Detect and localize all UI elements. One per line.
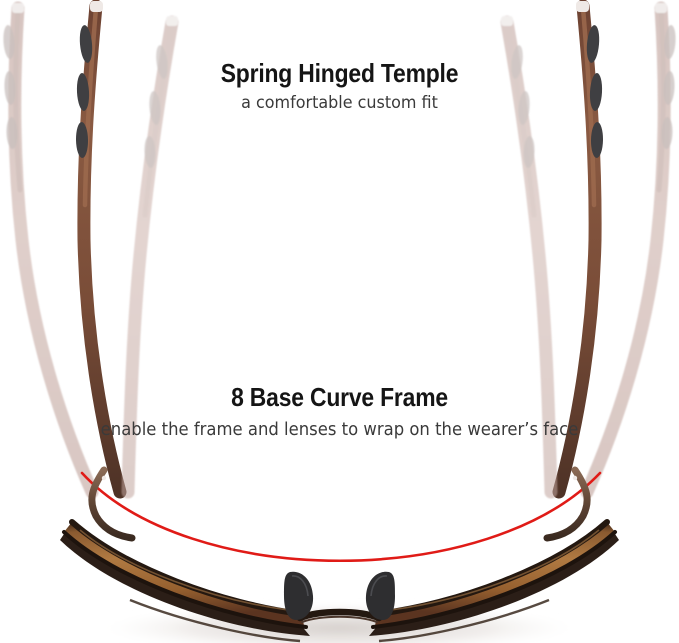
callout-base-curve-title: 8 Base Curve Frame — [41, 384, 639, 411]
nose-pad-left — [284, 572, 313, 620]
callout-spring-hinge-title: Spring Hinged Temple — [41, 60, 639, 87]
callout-spring-hinge: Spring Hinged Temple a comfortable custo… — [0, 60, 679, 113]
temple-tip-right — [576, 1, 589, 12]
callout-spring-hinge-subtitle: a comfortable custom fit — [20, 93, 658, 113]
callout-base-curve: 8 Base Curve Frame enable the frame and … — [0, 384, 679, 441]
temple-tip-left — [90, 1, 103, 12]
drop-shadow — [89, 602, 589, 643]
nose-pad-right — [366, 572, 395, 620]
base-curve-arc — [82, 473, 600, 561]
infographic-canvas: Spring Hinged Temple a comfortable custo… — [0, 0, 679, 643]
callout-base-curve-subtitle: enable the frame and lenses to wrap on t… — [20, 420, 658, 441]
